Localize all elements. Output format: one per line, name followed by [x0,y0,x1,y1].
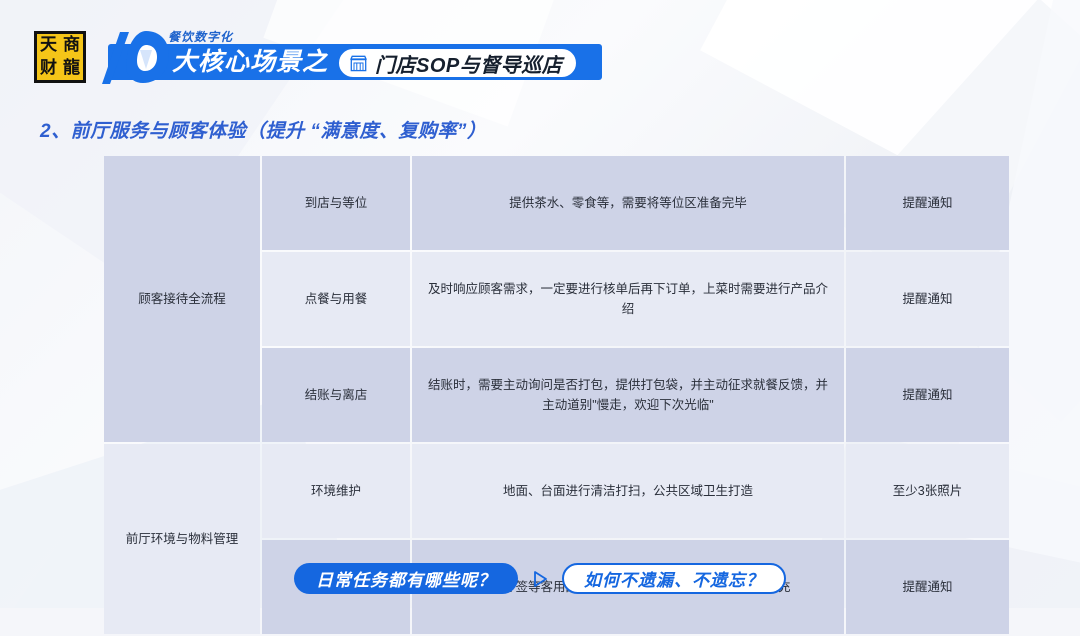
note-cell: 提醒通知 [846,156,1009,250]
question-secondary-pill[interactable]: 如何不遗漏、不遗忘？ [562,563,786,594]
stage-cell: 点餐与用餐 [262,252,410,346]
description-cell: 地面、台面进行清洁打扫，公共区域卫生打造 [412,444,844,538]
question-primary-pill[interactable]: 日常任务都有哪些呢？ [294,563,518,594]
description-cell: 提供茶水、零食等，需要将等位区准备完毕 [412,156,844,250]
storefront-icon [349,55,368,72]
table-row: 顾客接待全流程 到店与等位 提供茶水、零食等，需要将等位区准备完毕 提醒通知 [104,156,1009,250]
footer-questions: 日常任务都有哪些呢？ 如何不遗漏、不遗忘？ [0,563,1080,594]
ten-numeral-logo [96,28,172,86]
note-cell: 提醒通知 [846,252,1009,346]
header-banner: 天 商 财 龍 餐饮数字化 大核心场景之 门店SOP与督导巡店 [0,0,1080,100]
logo-char-1: 天 [40,37,57,54]
group-label-cell: 顾客接待全流程 [104,156,260,442]
brand-logo: 天 商 财 龍 [34,31,86,83]
page-title: 2、前厅服务与顾客体验（提升 “满意度、复购率”） [40,116,486,143]
header-kicker: 餐饮数字化 [168,28,233,45]
header-topic-badge: 门店SOP与督导巡店 [337,47,578,79]
header-main-title: 大核心场景之 [172,46,328,78]
stage-cell: 到店与等位 [262,156,410,250]
logo-char-2: 商 [63,37,80,54]
play-triangle-icon [529,568,551,590]
stage-cell: 环境维护 [262,444,410,538]
logo-char-4: 龍 [63,60,80,77]
note-cell: 至少3张照片 [846,444,1009,538]
header-topic-label: 门店SOP与督导巡店 [375,49,562,78]
note-cell: 提醒通知 [846,348,1009,442]
description-cell: 及时响应顾客需求，一定要进行核单后再下订单，上菜时需要进行产品介绍 [412,252,844,346]
stage-cell: 结账与离店 [262,348,410,442]
description-cell: 结账时，需要主动询问是否打包，提供打包袋，并主动征求就餐反馈，并主动道别"慢走，… [412,348,844,442]
logo-char-3: 财 [40,60,57,77]
table-row: 前厅环境与物料管理 环境维护 地面、台面进行清洁打扫，公共区域卫生打造 至少3张… [104,444,1009,538]
group-label-cell: 前厅环境与物料管理 [104,444,260,634]
